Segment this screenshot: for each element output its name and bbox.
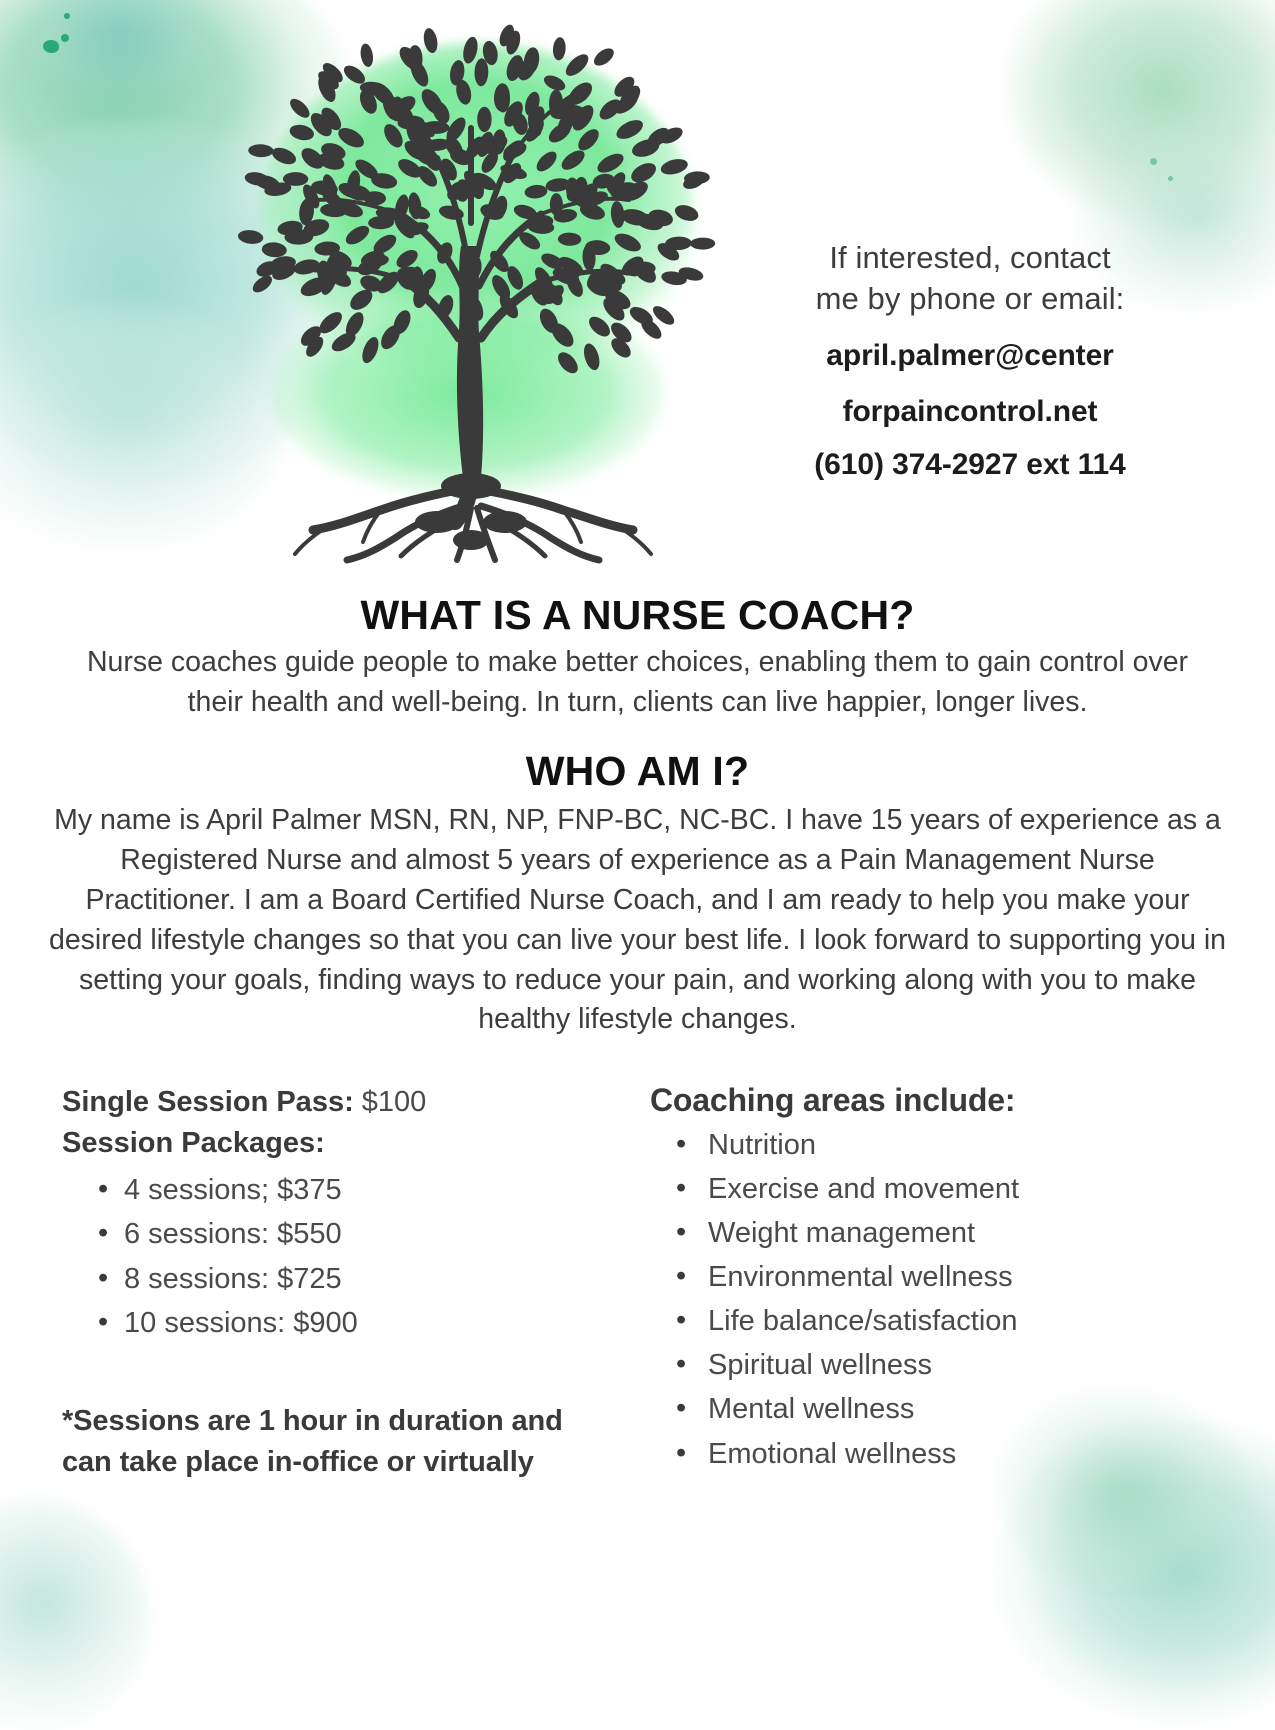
contact-phone[interactable]: (610) 374-2927 ext 114 [760,448,1180,482]
watercolor-wash-top-left-teal-accent [20,0,220,110]
sessions-note-line-2: can take place in-office or virtually [62,1442,640,1483]
bottom-columns: Single Session Pass: $100 Session Packag… [0,1082,1275,1483]
section-who-am-i: WHO AM I? My name is April Palmer MSN, R… [0,748,1275,1040]
section-title-who-am-i: WHO AM I? [0,748,1275,795]
watercolor-wash-bottom-left [0,1500,150,1730]
list-item: Weight management [650,1211,1275,1255]
contact-lead-line-2: me by phone or email: [760,279,1180,320]
contact-lead-line-1: If interested, contact [760,238,1180,279]
list-item: Environmental wellness [650,1255,1275,1299]
list-item: Life balance/satisfaction [650,1299,1275,1343]
section-title-what-is-a-nurse-coach: WHAT IS A NURSE COACH? [0,592,1275,639]
paint-speck [43,40,59,53]
flyer-page: If interested, contact me by phone or em… [0,0,1275,1650]
list-item: 8 sessions: $725 [62,1257,640,1301]
pricing-column: Single Session Pass: $100 Session Packag… [0,1082,640,1483]
list-item: 4 sessions; $375 [62,1168,640,1212]
section-what-is-a-nurse-coach: WHAT IS A NURSE COACH? Nurse coaches gui… [0,592,1275,723]
list-item: Emotional wellness [650,1432,1275,1476]
coaching-areas-heading: Coaching areas include: [650,1082,1275,1119]
section-body-who-am-i: My name is April Palmer MSN, RN, NP, FNP… [48,801,1228,1040]
list-item: 10 sessions: $900 [62,1301,640,1345]
sessions-note: *Sessions are 1 hour in duration and can… [62,1401,640,1483]
contact-email-line-2[interactable]: forpaincontrol.net [760,392,1180,432]
section-body-what-is-a-nurse-coach: Nurse coaches guide people to make bette… [58,643,1218,723]
paint-speck [1150,158,1157,165]
list-item: Spiritual wellness [650,1343,1275,1387]
list-item: Exercise and movement [650,1167,1275,1211]
paint-speck [64,13,70,19]
single-session-price: $100 [362,1086,427,1118]
list-item: 6 sessions: $550 [62,1212,640,1256]
single-session-line: Single Session Pass: $100 [62,1082,640,1123]
list-item: Nutrition [650,1123,1275,1167]
watercolor-wash-top-right-green [1005,0,1275,230]
paint-speck [1168,176,1173,181]
coaching-areas-column: Coaching areas include: Nutrition Exerci… [640,1082,1275,1476]
contact-email-line-1[interactable]: april.palmer@center [760,336,1180,376]
list-item: Mental wellness [650,1387,1275,1431]
session-packages-label: Session Packages: [62,1127,325,1159]
tree-of-life-illustration [205,8,745,568]
sessions-note-line-1: *Sessions are 1 hour in duration and [62,1401,640,1442]
contact-block: If interested, contact me by phone or em… [760,238,1180,482]
single-session-label: Single Session Pass: [62,1086,354,1118]
session-packages-list: 4 sessions; $375 6 sessions: $550 8 sess… [62,1168,640,1344]
session-packages-line: Session Packages: [62,1123,640,1164]
paint-speck [61,34,69,42]
coaching-areas-list: Nutrition Exercise and movement Weight m… [650,1123,1275,1476]
